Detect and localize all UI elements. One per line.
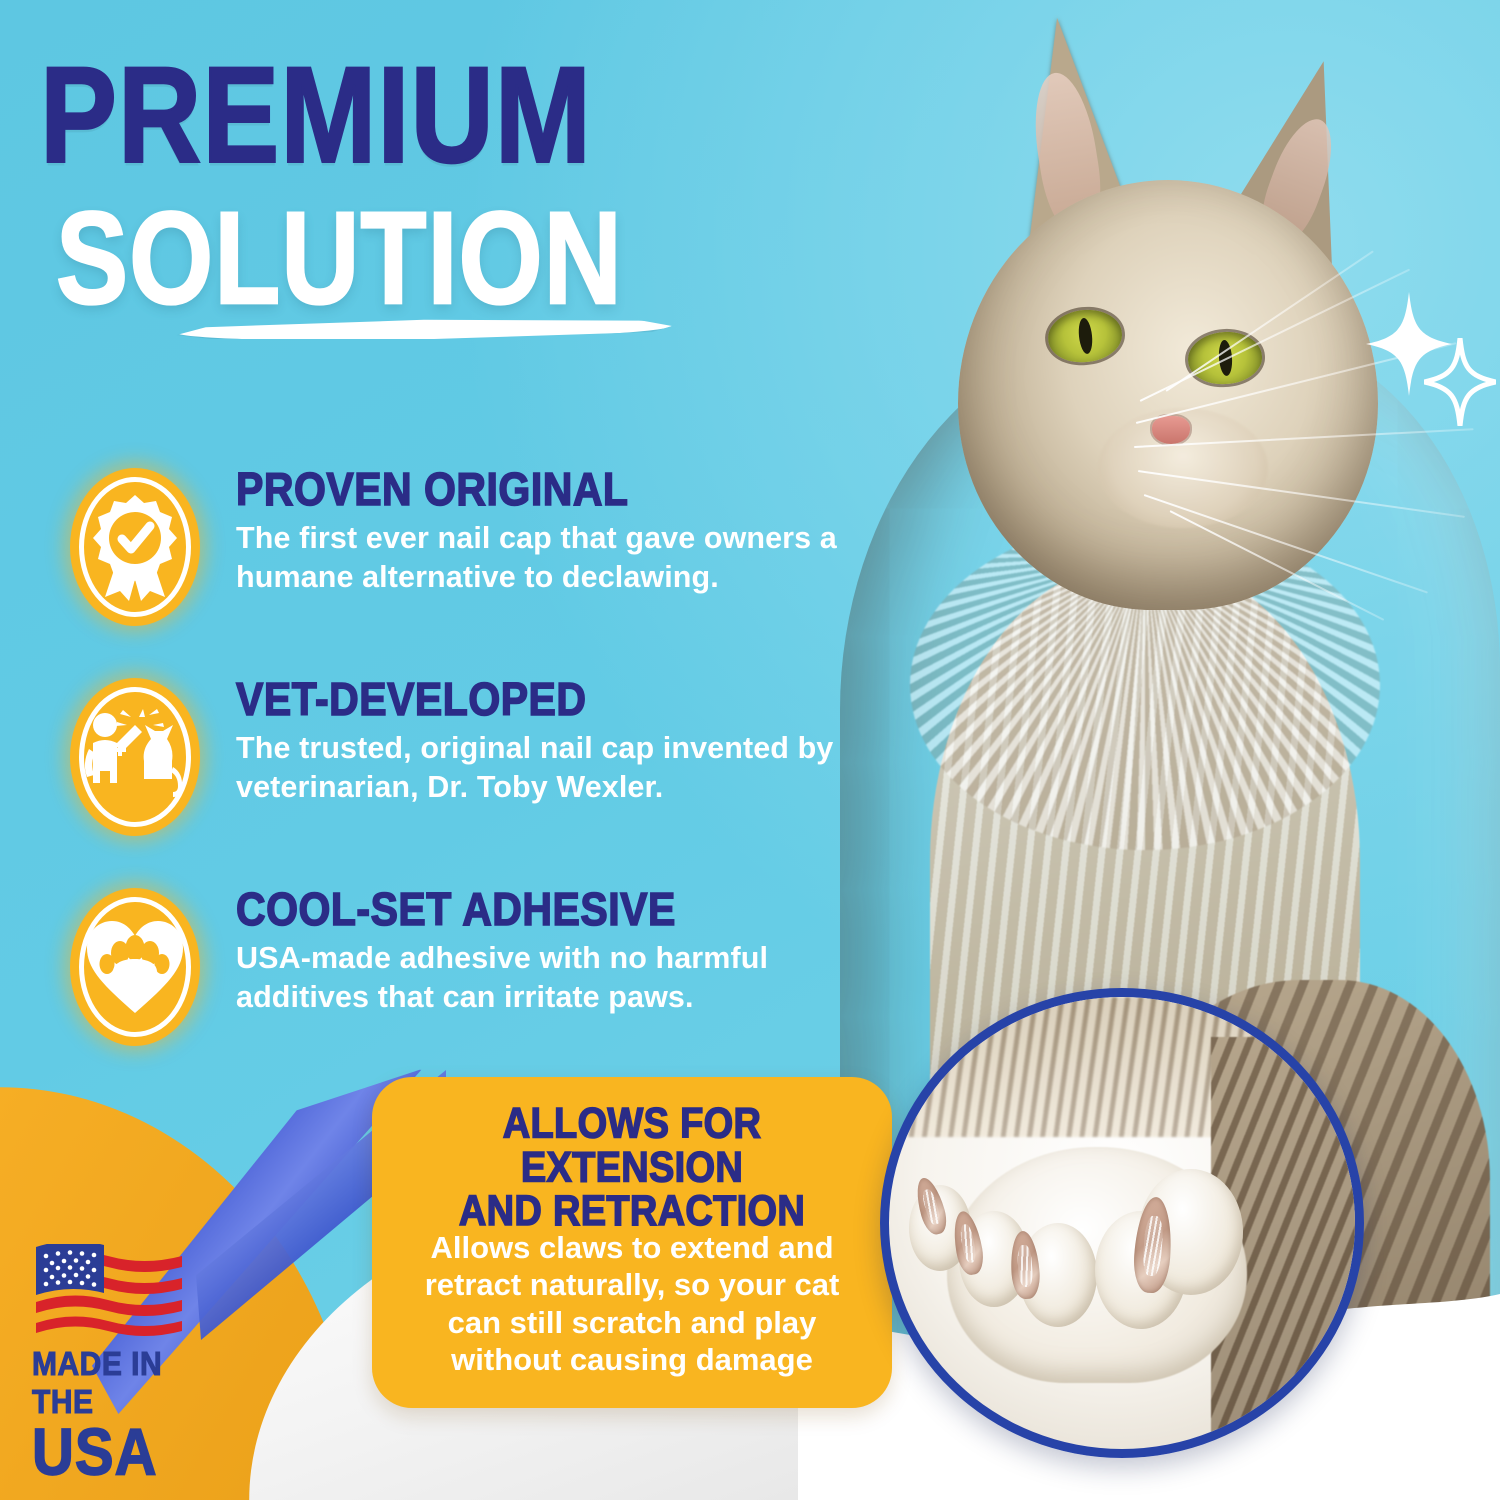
feature-item: COOL-SET ADHESIVE USA-made adhesive with… [56,882,866,1052]
feature-item: PROVEN ORIGINAL The first ever nail cap … [56,462,866,632]
vet-high-five-cat-icon [56,672,214,842]
sparkle-star-outline-icon [1424,338,1496,426]
extension-retraction-callout: ALLOWS FOR EXTENSION AND RETRACTION Allo… [372,1077,892,1408]
callout-body: Allows claws to extend and retract natur… [398,1229,866,1378]
feature-list: PROVEN ORIGINAL The first ever nail cap … [56,462,866,1092]
usa-badge-line-2: USA [32,1420,232,1486]
feature-body: The trusted, original nail cap invented … [236,729,866,807]
headline-block: PREMIUM SOLUTION [40,52,880,297]
callout-title: ALLOWS FOR EXTENSION AND RETRACTION [398,1103,866,1233]
made-in-usa-badge: MADE IN THE USA [22,1244,232,1478]
feature-body: The first ever nail cap that gave owners… [236,519,866,597]
headline-line-2: SOLUTION [56,199,896,320]
callout-title-line-1: ALLOWS FOR EXTENSION [503,1101,761,1191]
feature-title: COOL-SET ADHESIVE [236,886,866,933]
cat-paw-with-nail-caps-closeup [880,988,1364,1458]
feature-item: VET-DEVELOPED The trusted, original nail… [56,672,866,842]
feature-title: VET-DEVELOPED [236,676,866,723]
usa-badge-line-1: MADE IN THE [32,1346,232,1422]
callout-title-line-2: AND RETRACTION [459,1188,805,1235]
usa-flag-icon [34,1244,184,1336]
award-ribbon-check-icon [56,462,214,632]
product-infographic: PREMIUM SOLUTION PROVEN ORIGINAL The fir… [0,0,1500,1500]
feature-body: USA-made adhesive with no harmful additi… [236,939,866,1017]
headline-line-1: PREMIUM [40,52,905,178]
feature-title: PROVEN ORIGINAL [236,466,866,513]
heart-paw-icon [56,882,214,1052]
cat-whiskers [930,360,1490,620]
